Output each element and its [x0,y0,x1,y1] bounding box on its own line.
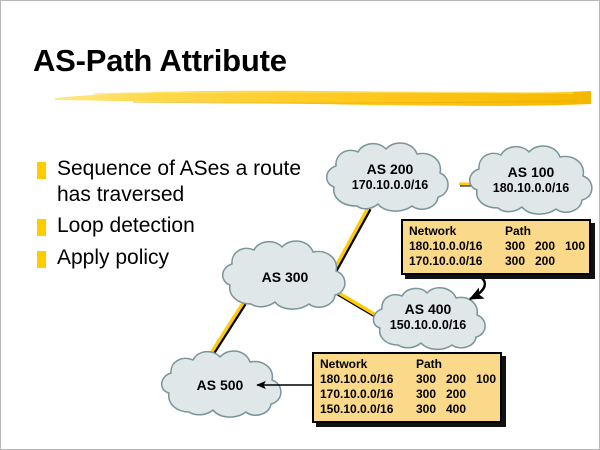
cloud-name: AS 500 [172,378,268,394]
table-row: 170.10.0.0/16 300 200 [320,387,506,402]
cloud-prefix: 180.10.0.0/16 [483,181,579,195]
bullet-list: Sequence of ASes a route has traversed L… [37,156,305,276]
cell-path-2: 400 [446,402,476,417]
bullet-text: Loop detection [57,213,195,239]
cell-path-1: 300 [416,372,446,387]
cell-path-3 [476,402,506,417]
cell-path-1: 300 [505,239,535,254]
table-row: 150.10.0.0/16 300 400 [320,402,506,417]
cloud-label-as400: AS 400 150.10.0.0/16 [380,302,476,332]
cloud-label-as200: AS 200 170.10.0.0/16 [342,162,438,192]
cell-path-2: 200 [446,372,476,387]
column-header-path: Path [505,224,595,239]
cell-path-1: 300 [416,402,446,417]
table-row: 180.10.0.0/16 300 200 100 [320,372,506,387]
cell-path-2: 200 [535,254,565,269]
cloud-prefix: 170.10.0.0/16 [342,178,438,192]
cell-network: 170.10.0.0/16 [320,387,416,402]
cloud-name: AS 100 [483,165,579,181]
cloud-name: AS 300 [237,270,333,286]
route-table-upper: Network Path 180.10.0.0/16 300 200 100 1… [401,219,591,275]
list-item: Loop detection [37,213,305,239]
cell-path-1: 300 [416,387,446,402]
cloud-label-as500: AS 500 [172,378,268,394]
cell-path-3: 100 [565,239,595,254]
link-as300-as400 [337,292,382,320]
column-header-network: Network [409,224,505,239]
bullet-text: Sequence of ASes a route has traversed [57,156,305,207]
cell-path-3: 100 [476,372,506,387]
cloud-name: AS 200 [342,162,438,178]
table-header-row: Network Path [409,224,595,239]
link-as200-as100 [459,184,477,185]
bullet-text: Apply policy [57,245,169,271]
link-as300-as200 [330,208,370,278]
arrow-upper-table-to-as400 [469,273,485,299]
cloud-name: AS 400 [380,302,476,318]
cell-path-3 [476,387,506,402]
cloud-prefix: 150.10.0.0/16 [380,318,476,332]
cell-network: 150.10.0.0/16 [320,402,416,417]
page-title: AS-Path Attribute [33,43,287,79]
cell-network: 180.10.0.0/16 [409,239,505,254]
column-header-network: Network [320,357,416,372]
cell-network: 180.10.0.0/16 [320,372,416,387]
slide-canvas: AS-Path Attribute Sequence of ASes a rou… [0,0,600,450]
bullet-square-icon [37,219,46,236]
bullet-square-icon [37,251,46,268]
bullet-square-icon [37,162,46,179]
table-header-row: Network Path [320,357,506,372]
list-item: Sequence of ASes a route has traversed [37,156,305,207]
cell-path-2: 200 [446,387,476,402]
route-table-lower: Network Path 180.10.0.0/16 300 200 100 1… [312,352,502,423]
table-row: 180.10.0.0/16 300 200 100 [409,239,595,254]
title-brush-stroke [53,87,593,109]
cell-path-3 [565,254,595,269]
link-as300-as500 [206,303,245,362]
list-item: Apply policy [37,245,305,271]
column-header-path: Path [416,357,506,372]
cell-path-1: 300 [505,254,535,269]
cloud-label-as100: AS 100 180.10.0.0/16 [483,165,579,195]
cloud-label-as300: AS 300 [237,270,333,286]
cell-path-2: 200 [535,239,565,254]
cell-network: 170.10.0.0/16 [409,254,505,269]
table-row: 170.10.0.0/16 300 200 [409,254,595,269]
